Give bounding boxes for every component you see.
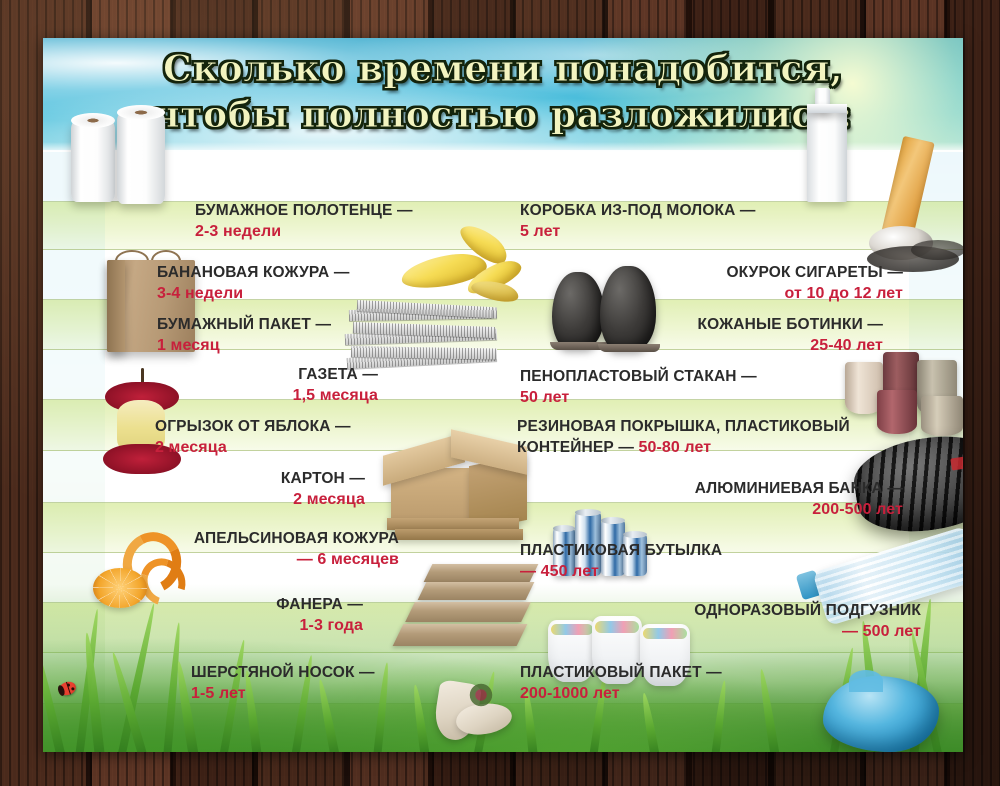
entry-label: КОРОБКА ИЗ-ПОД МОЛОКА — xyxy=(520,200,756,221)
entry-left-9: ШЕРСТЯНОЙ НОСОК — 1-5 лет xyxy=(191,662,375,704)
entry-label: ПЕНОПЛАСТОВЫЙ СТАКАН — xyxy=(520,366,757,387)
cigarette-butt-illustration xyxy=(865,134,963,284)
plastic-bag-illustration xyxy=(813,668,953,752)
entry-value: 200-500 лет xyxy=(623,499,903,520)
entry-label: РЕЗИНОВАЯ ПОКРЫШКА, ПЛАСТИКОВЫЙ КОНТЕЙНЕ… xyxy=(517,416,887,458)
entry-label: ОГРЫЗОК ОТ ЯБЛОКА — xyxy=(155,416,351,437)
entry-value: 25-40 лет xyxy=(643,335,883,356)
entry-value: 2-3 недели xyxy=(195,221,413,242)
entry-value: 1 месяц xyxy=(157,335,331,356)
entry-left-3: БУМАЖНЫЙ ПАКЕТ — 1 месяц xyxy=(157,314,331,356)
entry-label: ПЛАСТИКОВЫЙ ПАКЕТ — xyxy=(520,662,722,683)
entry-right-9: ПЛАСТИКОВЫЙ ПАКЕТ — 200-1000 лет xyxy=(520,662,722,704)
entry-right-8: ОДНОРАЗОВЫЙ ПОДГУЗНИК — 500 лет xyxy=(623,600,921,642)
eco-decomposition-poster: Сколько времени понадобится, чтобы полно… xyxy=(43,38,963,752)
entry-value: — 500 лет xyxy=(623,621,921,642)
entry-label: АЛЮМИНИЕВАЯ БАНКА — xyxy=(623,478,903,499)
milk-carton-illustration xyxy=(795,84,865,208)
entry-value: 3-4 недели xyxy=(157,283,349,304)
entry-label: ФАНЕРА — xyxy=(193,594,363,615)
entry-label: БУМАЖНЫЙ ПАКЕТ — xyxy=(157,314,331,335)
paper-towel-rolls-illustration xyxy=(65,104,205,204)
entry-label: ПЛАСТИКОВАЯ БУТЫЛКА xyxy=(520,540,722,561)
entry-label: БУМАЖНОЕ ПОЛОТЕНЦЕ — xyxy=(195,200,413,221)
entry-label: КОЖАНЫЕ БОТИНКИ — xyxy=(643,314,883,335)
entry-value: 2 месяца xyxy=(193,489,365,510)
entry-left-8: ФАНЕРА — 1-3 года xyxy=(193,594,363,636)
entry-value: 1,5 месяца xyxy=(193,385,378,406)
entry-left-7: АПЕЛЬСИНОВАЯ КОЖУРА — 6 месяцев xyxy=(149,528,399,570)
entry-value: 1-3 года xyxy=(193,615,363,636)
entry-left-5: ОГРЫЗОК ОТ ЯБЛОКА — 2 месяца xyxy=(155,416,351,458)
entry-left-1: БУМАЖНОЕ ПОЛОТЕНЦЕ — 2-3 недели xyxy=(195,200,413,242)
wool-sock-illustration xyxy=(428,678,528,748)
entry-label: КАРТОН — xyxy=(193,468,365,489)
entry-value: 2 месяца xyxy=(155,437,351,458)
entry-label: АПЕЛЬСИНОВАЯ КОЖУРА xyxy=(149,528,399,549)
entry-left-2: БАНАНОВАЯ КОЖУРА — 3-4 недели xyxy=(157,262,349,304)
entry-label: ГАЗЕТА — xyxy=(193,364,378,385)
entry-right-6: АЛЮМИНИЕВАЯ БАНКА — 200-500 лет xyxy=(623,478,903,520)
entry-label: БАНАНОВАЯ КОЖУРА — xyxy=(157,262,349,283)
entry-label: ОКУРОК СИГАРЕТЫ — xyxy=(643,262,903,283)
entry-value: 1-5 лет xyxy=(191,683,375,704)
entry-value: 50 лет xyxy=(520,387,757,408)
entry-label: ОДНОРАЗОВЫЙ ПОДГУЗНИК xyxy=(623,600,921,621)
entry-value: от 10 до 12 лет xyxy=(643,283,903,304)
entry-right-4: ПЕНОПЛАСТОВЫЙ СТАКАН — 50 лет xyxy=(520,366,757,408)
entry-right-7: ПЛАСТИКОВАЯ БУТЫЛКА — 450 лет xyxy=(520,540,722,582)
entry-value: 50-80 лет xyxy=(638,439,711,456)
entry-left-6: КАРТОН — 2 месяца xyxy=(193,468,365,510)
entry-value: — 6 месяцев xyxy=(149,549,399,570)
entry-right-2: ОКУРОК СИГАРЕТЫ — от 10 до 12 лет xyxy=(643,262,903,304)
entry-value: — 450 лет xyxy=(520,561,722,582)
entry-value: 5 лет xyxy=(520,221,756,242)
entry-left-4: ГАЗЕТА — 1,5 месяца xyxy=(193,364,378,406)
entry-right-3: КОЖАНЫЕ БОТИНКИ — 25-40 лет xyxy=(643,314,883,356)
entry-right-1: КОРОБКА ИЗ-ПОД МОЛОКА — 5 лет xyxy=(520,200,756,242)
entry-right-5: РЕЗИНОВАЯ ПОКРЫШКА, ПЛАСТИКОВЫЙ КОНТЕЙНЕ… xyxy=(517,416,887,458)
entry-value: 200-1000 лет xyxy=(520,683,722,704)
entry-label: ШЕРСТЯНОЙ НОСОК — xyxy=(191,662,375,683)
